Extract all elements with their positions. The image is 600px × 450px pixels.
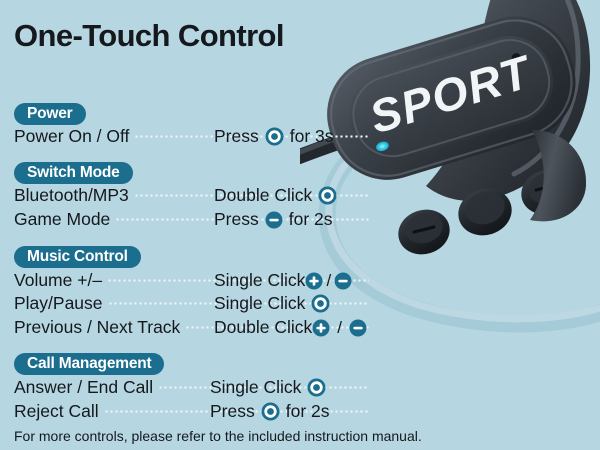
section-badge-call-management: Call Management: [14, 353, 164, 375]
action-prefix: Press: [214, 126, 259, 147]
row-action: Double Click: [214, 185, 337, 206]
power-ring-icon: [265, 127, 284, 146]
row-prev-next-track: Previous / Next Track Double Click /: [14, 316, 374, 339]
action-suffix: for 3s: [290, 126, 334, 147]
minus-circle-icon: [265, 211, 283, 229]
control-guide-panel: SPORT One-Touch Control Power: [0, 0, 600, 450]
plus-circle-icon: [312, 319, 330, 337]
section-badge-switch-mode: Switch Mode: [14, 162, 133, 184]
footer-note: For more controls, please refer to the i…: [14, 428, 422, 444]
row-play-pause: Play/Pause Single Click: [14, 292, 374, 315]
action-suffix: for 2s: [286, 401, 330, 422]
action-prefix: Double Click: [214, 317, 312, 338]
row-label: Bluetooth/MP3: [14, 185, 129, 206]
row-label: Previous / Next Track: [14, 317, 180, 338]
row-action: Double Click /: [214, 317, 367, 338]
row-action: Press for 3s: [214, 126, 334, 147]
badge-label: Call Management: [14, 353, 164, 375]
row-label: Reject Call: [14, 401, 99, 422]
badge-label: Music Control: [14, 246, 141, 268]
icon-separator: /: [330, 318, 349, 338]
row-label: Volume +/–: [14, 270, 102, 291]
row-reject-call: Reject Call Press for 2s: [14, 400, 374, 423]
row-answer-end-call: Answer / End Call Single Click: [14, 376, 374, 399]
power-ring-icon: [318, 186, 337, 205]
action-prefix: Double Click: [214, 185, 312, 206]
row-action: Single Click: [210, 377, 326, 398]
row-label: Answer / End Call: [14, 377, 153, 398]
section-badge-power: Power: [14, 103, 86, 125]
power-ring-icon: [307, 378, 326, 397]
row-game-mode: Game Mode Press for 2s: [14, 208, 374, 231]
icon-separator: /: [323, 271, 334, 291]
plus-circle-icon: [305, 272, 323, 290]
minus-circle-icon: [349, 319, 367, 337]
row-volume: Volume +/– Single Click /: [14, 269, 374, 292]
action-prefix: Press: [210, 401, 255, 422]
row-action: Press for 2s: [210, 401, 330, 422]
row-power-on-off: Power On / Off Press for 3s: [14, 125, 374, 148]
power-ring-icon: [261, 402, 280, 421]
section-badge-music-control: Music Control: [14, 246, 141, 268]
power-ring-icon: [311, 294, 330, 313]
row-label: Power On / Off: [14, 126, 129, 147]
page-title: One-Touch Control: [14, 18, 284, 54]
action-prefix: Press: [214, 209, 259, 230]
row-action: Press for 2s: [214, 209, 333, 230]
action-prefix: Single Click: [214, 293, 305, 314]
row-bluetooth-mp3: Bluetooth/MP3 Double Click: [14, 184, 374, 207]
row-label: Play/Pause: [14, 293, 103, 314]
badge-label: Switch Mode: [14, 162, 133, 184]
badge-label: Power: [14, 103, 86, 125]
action-suffix: for 2s: [289, 209, 333, 230]
row-action: Single Click: [214, 293, 330, 314]
action-prefix: Single Click: [214, 270, 305, 291]
action-prefix: Single Click: [210, 377, 301, 398]
instructions-column: One-Touch Control Power Power On / Off P…: [0, 0, 600, 450]
row-label: Game Mode: [14, 209, 110, 230]
row-action: Single Click /: [214, 270, 352, 291]
minus-circle-icon: [334, 272, 352, 290]
